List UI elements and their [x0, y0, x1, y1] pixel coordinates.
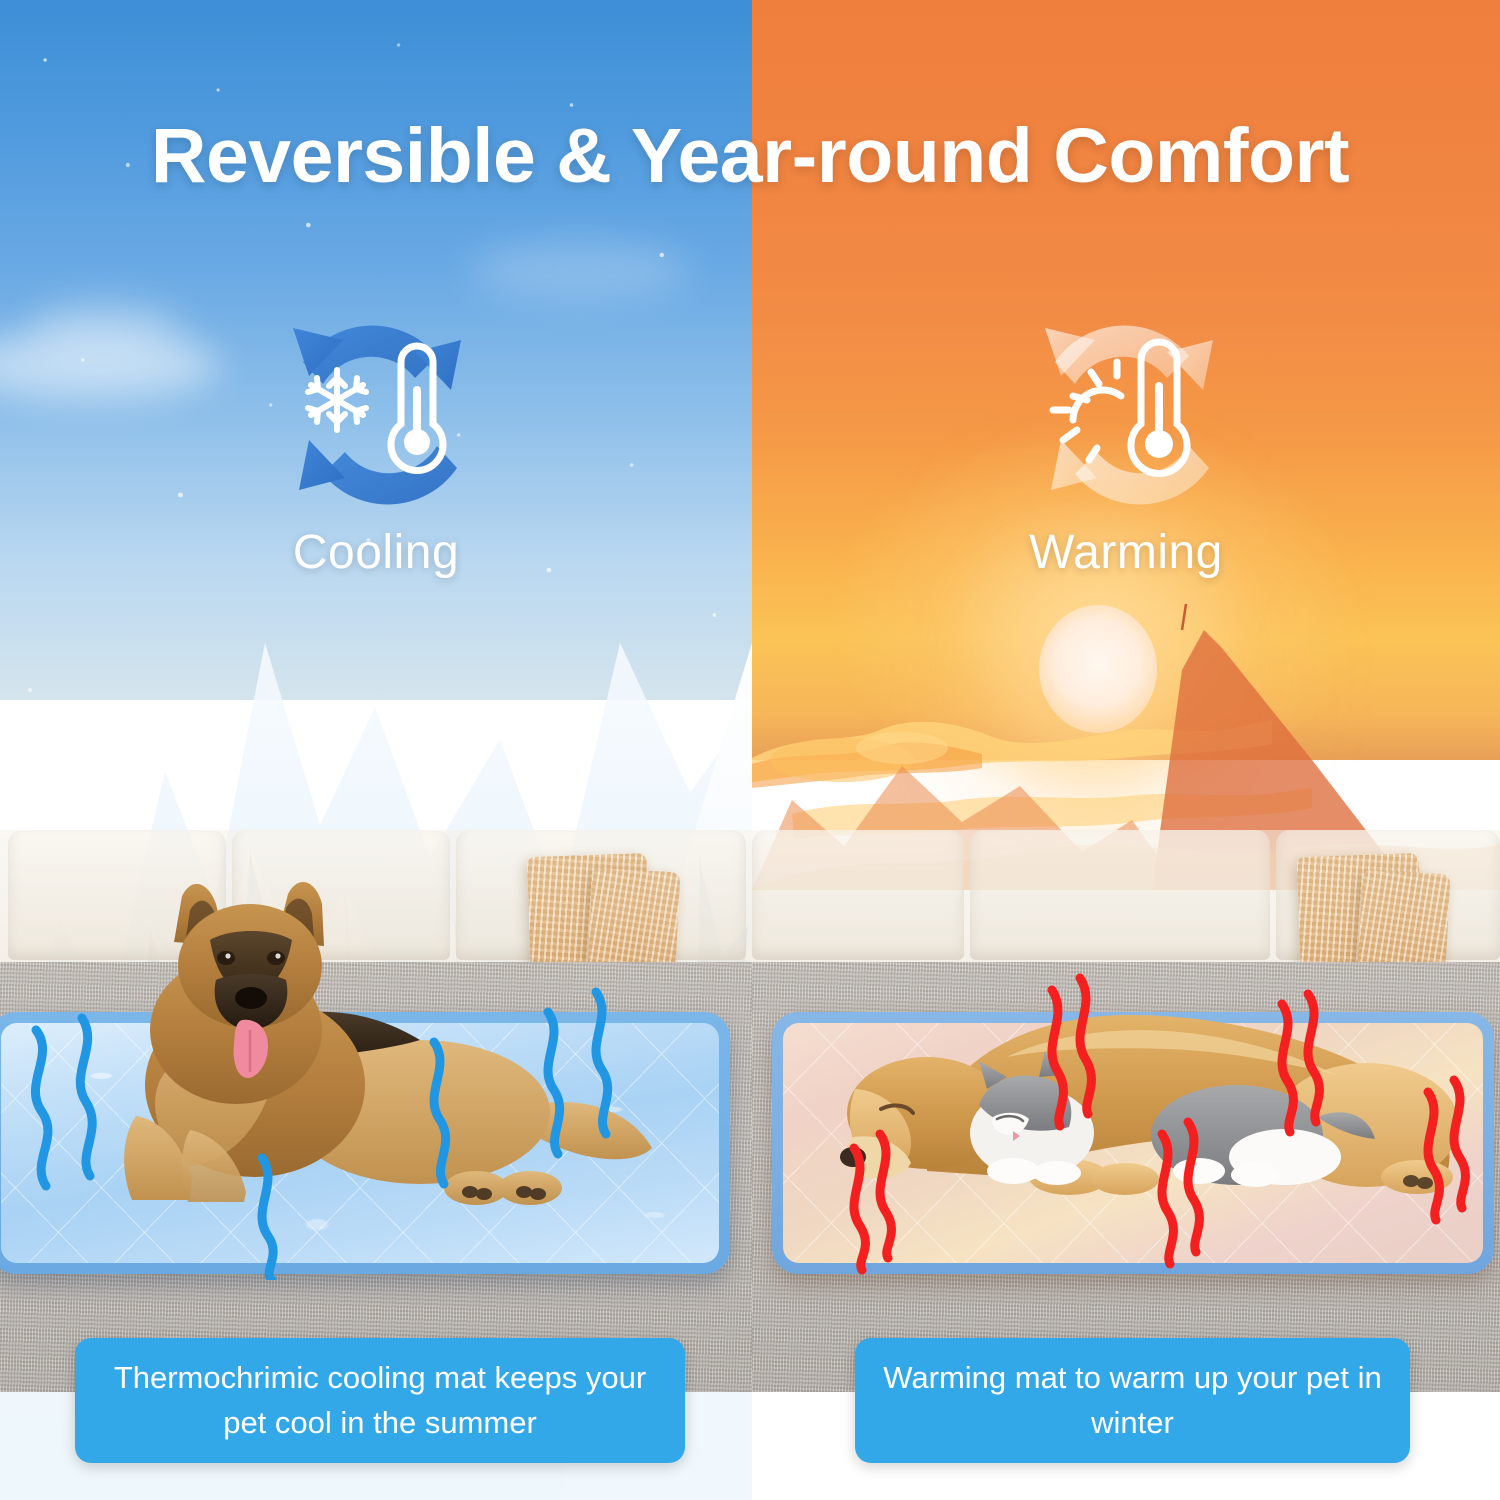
- warming-label: Warming: [752, 525, 1500, 580]
- cooling-label: Cooling: [0, 525, 752, 580]
- sofa-cushion: [752, 830, 964, 960]
- cycle-arrow-top-icon: [1045, 326, 1213, 390]
- snowflake-icon: [308, 370, 366, 430]
- cooling-caption: Thermochrimic cooling mat keeps your pet…: [75, 1338, 685, 1463]
- cooling-panel: Cooling: [0, 0, 752, 1500]
- golden-retriever-and-cat: [807, 985, 1487, 1235]
- german-shepherd-dog: [40, 880, 660, 1230]
- cycle-arrow-bottom-icon: [299, 440, 457, 504]
- warming-caption: Warming mat to warm up your pet in winte…: [855, 1338, 1410, 1463]
- page-title: Reversible & Year-round Comfort: [0, 112, 1500, 201]
- warming-panel: Warming: [752, 0, 1500, 1500]
- cooling-icon-badge: [265, 300, 495, 530]
- sofa-cushion: [970, 830, 1270, 960]
- warming-icon-badge: [1017, 300, 1247, 530]
- product-feature-image: Cooling: [0, 0, 1500, 1500]
